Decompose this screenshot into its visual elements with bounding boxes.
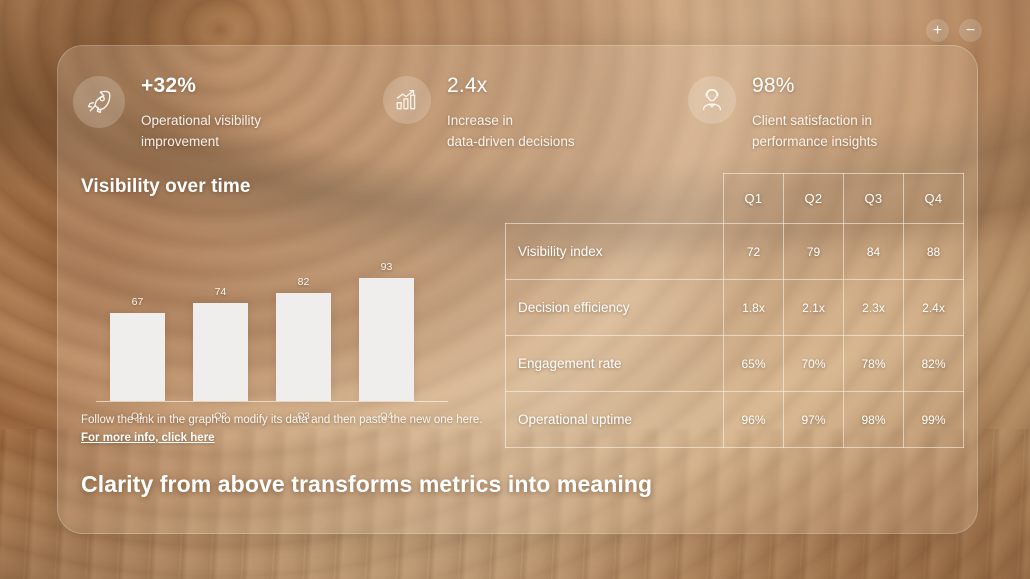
kpi-label-line2: performance insights — [752, 134, 877, 149]
chart-bars: 67 74 82 93 — [96, 246, 466, 401]
bar-slot[interactable]: 74 — [179, 246, 262, 401]
row-label: Visibility index — [506, 224, 724, 280]
chart-instruction-note: Follow the link in the graph to modify i… — [81, 411, 486, 447]
bar-value-label: 74 — [215, 286, 227, 298]
kpi-value: 2.4x — [447, 74, 575, 98]
bar-value-label: 67 — [132, 296, 144, 308]
kpi-value: +32% — [141, 74, 261, 98]
bar[interactable] — [193, 303, 248, 401]
kpi-text: +32% Operational visibility improvement — [141, 74, 261, 152]
table-row: Visibility index 72 79 84 88 — [506, 224, 964, 280]
table-cell: 97% — [784, 392, 844, 448]
table-cell: 65% — [724, 336, 784, 392]
chart-x-axis — [96, 401, 448, 403]
kpi-label-line2: improvement — [141, 134, 219, 149]
bar-value-label: 82 — [298, 276, 310, 288]
kpi-label-line1: Client satisfaction in — [752, 113, 872, 128]
kpi-label: Increase in data-driven decisions — [447, 110, 575, 152]
table-header-row: Q1 Q2 Q3 Q4 — [506, 174, 964, 224]
kpi-text: 98% Client satisfaction in performance i… — [752, 74, 877, 152]
table-cell: 2.1x — [784, 280, 844, 336]
rocket-icon — [73, 76, 125, 128]
kpi-data-driven-decisions: 2.4x Increase in data-driven decisions — [383, 46, 688, 166]
table-column-header-q1: Q1 — [724, 174, 784, 224]
table-column-header-q4: Q4 — [904, 174, 964, 224]
table-cell: 70% — [784, 336, 844, 392]
bar[interactable] — [359, 278, 414, 401]
row-label: Decision efficiency — [506, 280, 724, 336]
table-cell: 98% — [844, 392, 904, 448]
table-column-header-q3: Q3 — [844, 174, 904, 224]
kpi-operational-visibility: +32% Operational visibility improvement — [73, 46, 383, 166]
kpi-label: Operational visibility improvement — [141, 110, 261, 152]
table-row: Decision efficiency 1.8x 2.1x 2.3x 2.4x — [506, 280, 964, 336]
glass-panel: +32% Operational visibility improvement — [57, 45, 978, 534]
bar[interactable] — [276, 293, 331, 401]
chart-title: Visibility over time — [81, 176, 251, 198]
bar-slot[interactable]: 82 — [262, 246, 345, 401]
chart-note-text: Follow the link in the graph to modify i… — [81, 414, 482, 426]
bar-slot[interactable]: 67 — [96, 246, 179, 401]
kpi-label-line2: data-driven decisions — [447, 134, 575, 149]
kpi-client-satisfaction: 98% Client satisfaction in performance i… — [688, 46, 978, 166]
table-cell: 82% — [904, 336, 964, 392]
bar-chart[interactable]: 67 74 82 93 Q1 Q2 — [96, 224, 466, 424]
table-column-header-q2: Q2 — [784, 174, 844, 224]
table-cell: 72 — [724, 224, 784, 280]
row-label: Operational uptime — [506, 392, 724, 448]
table-header: Q1 Q2 Q3 Q4 — [506, 174, 964, 224]
bar-value-label: 93 — [381, 261, 393, 273]
table-cell: 96% — [724, 392, 784, 448]
table-cell: 1.8x — [724, 280, 784, 336]
bar[interactable] — [110, 313, 165, 401]
table-body: Visibility index 72 79 84 88 Decision ef… — [506, 224, 964, 448]
kpi-text: 2.4x Increase in data-driven decisions — [447, 74, 575, 152]
metrics-table: Q1 Q2 Q3 Q4 Visibility index 72 79 84 88… — [505, 173, 964, 448]
table-corner-cell — [506, 174, 724, 224]
table-cell: 88 — [904, 224, 964, 280]
table-row: Engagement rate 65% 70% 78% 82% — [506, 336, 964, 392]
row-label: Engagement rate — [506, 336, 724, 392]
slide-stage: + − +32% Operational — [0, 0, 1030, 579]
headline: Clarity from above transforms metrics in… — [81, 471, 652, 498]
zoom-out-button[interactable]: − — [959, 19, 982, 42]
kpi-value: 98% — [752, 74, 877, 98]
growth-chart-icon — [383, 76, 431, 124]
bar-slot[interactable]: 93 — [345, 246, 428, 401]
table-cell: 2.4x — [904, 280, 964, 336]
kpi-label-line1: Operational visibility — [141, 113, 261, 128]
more-info-link[interactable]: For more info, click here — [81, 432, 215, 444]
kpi-strip: +32% Operational visibility improvement — [58, 46, 978, 166]
table-cell: 84 — [844, 224, 904, 280]
zoom-controls: + − — [926, 19, 982, 42]
table-cell: 78% — [844, 336, 904, 392]
kpi-label-line1: Increase in — [447, 113, 513, 128]
table-row: Operational uptime 96% 97% 98% 99% — [506, 392, 964, 448]
zoom-in-button[interactable]: + — [926, 19, 949, 42]
table-cell: 99% — [904, 392, 964, 448]
table-cell: 2.3x — [844, 280, 904, 336]
person-icon — [688, 76, 736, 124]
kpi-label: Client satisfaction in performance insig… — [752, 110, 877, 152]
table-cell: 79 — [784, 224, 844, 280]
